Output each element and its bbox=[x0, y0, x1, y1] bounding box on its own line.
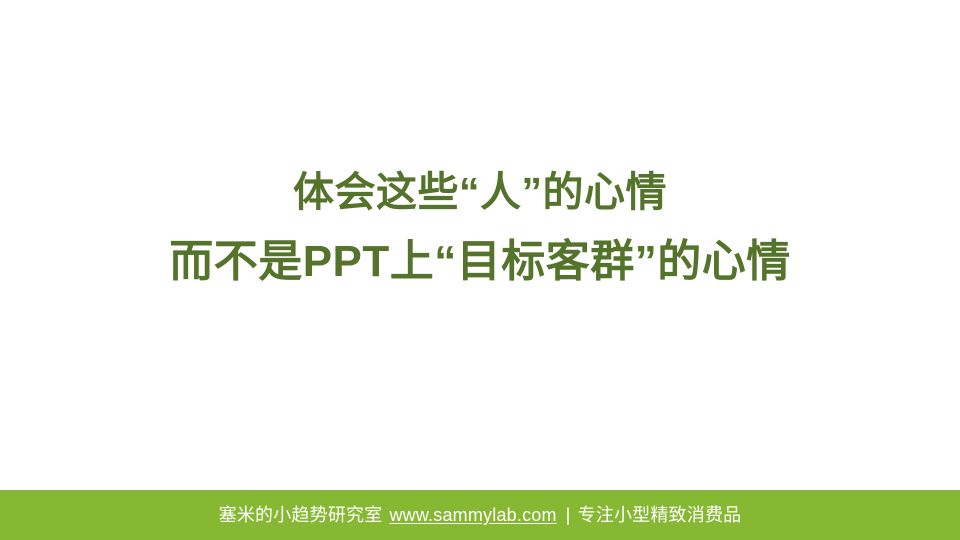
presentation-slide: 体会这些“人”的心情 而不是PPT上“目标客群”的心情 塞米的小趋势研究室 ww… bbox=[0, 0, 960, 540]
slide-title-block: 体会这些“人”的心情 而不是PPT上“目标客群”的心情 bbox=[0, 163, 960, 293]
title-line-primary: 体会这些“人”的心情 bbox=[0, 163, 960, 221]
footer-text: 塞米的小趋势研究室 www.sammylab.com | 专注小型精致消费品 bbox=[219, 503, 742, 527]
title-line-secondary: 而不是PPT上“目标客群”的心情 bbox=[0, 231, 960, 293]
footer-website-link[interactable]: www.sammylab.com bbox=[389, 503, 556, 527]
footer-separator: | bbox=[566, 503, 571, 527]
footer-tagline: 专注小型精致消费品 bbox=[578, 503, 742, 527]
footer-bar: 塞米的小趋势研究室 www.sammylab.com | 专注小型精致消费品 bbox=[0, 490, 960, 540]
footer-brand-name: 塞米的小趋势研究室 bbox=[219, 503, 383, 527]
